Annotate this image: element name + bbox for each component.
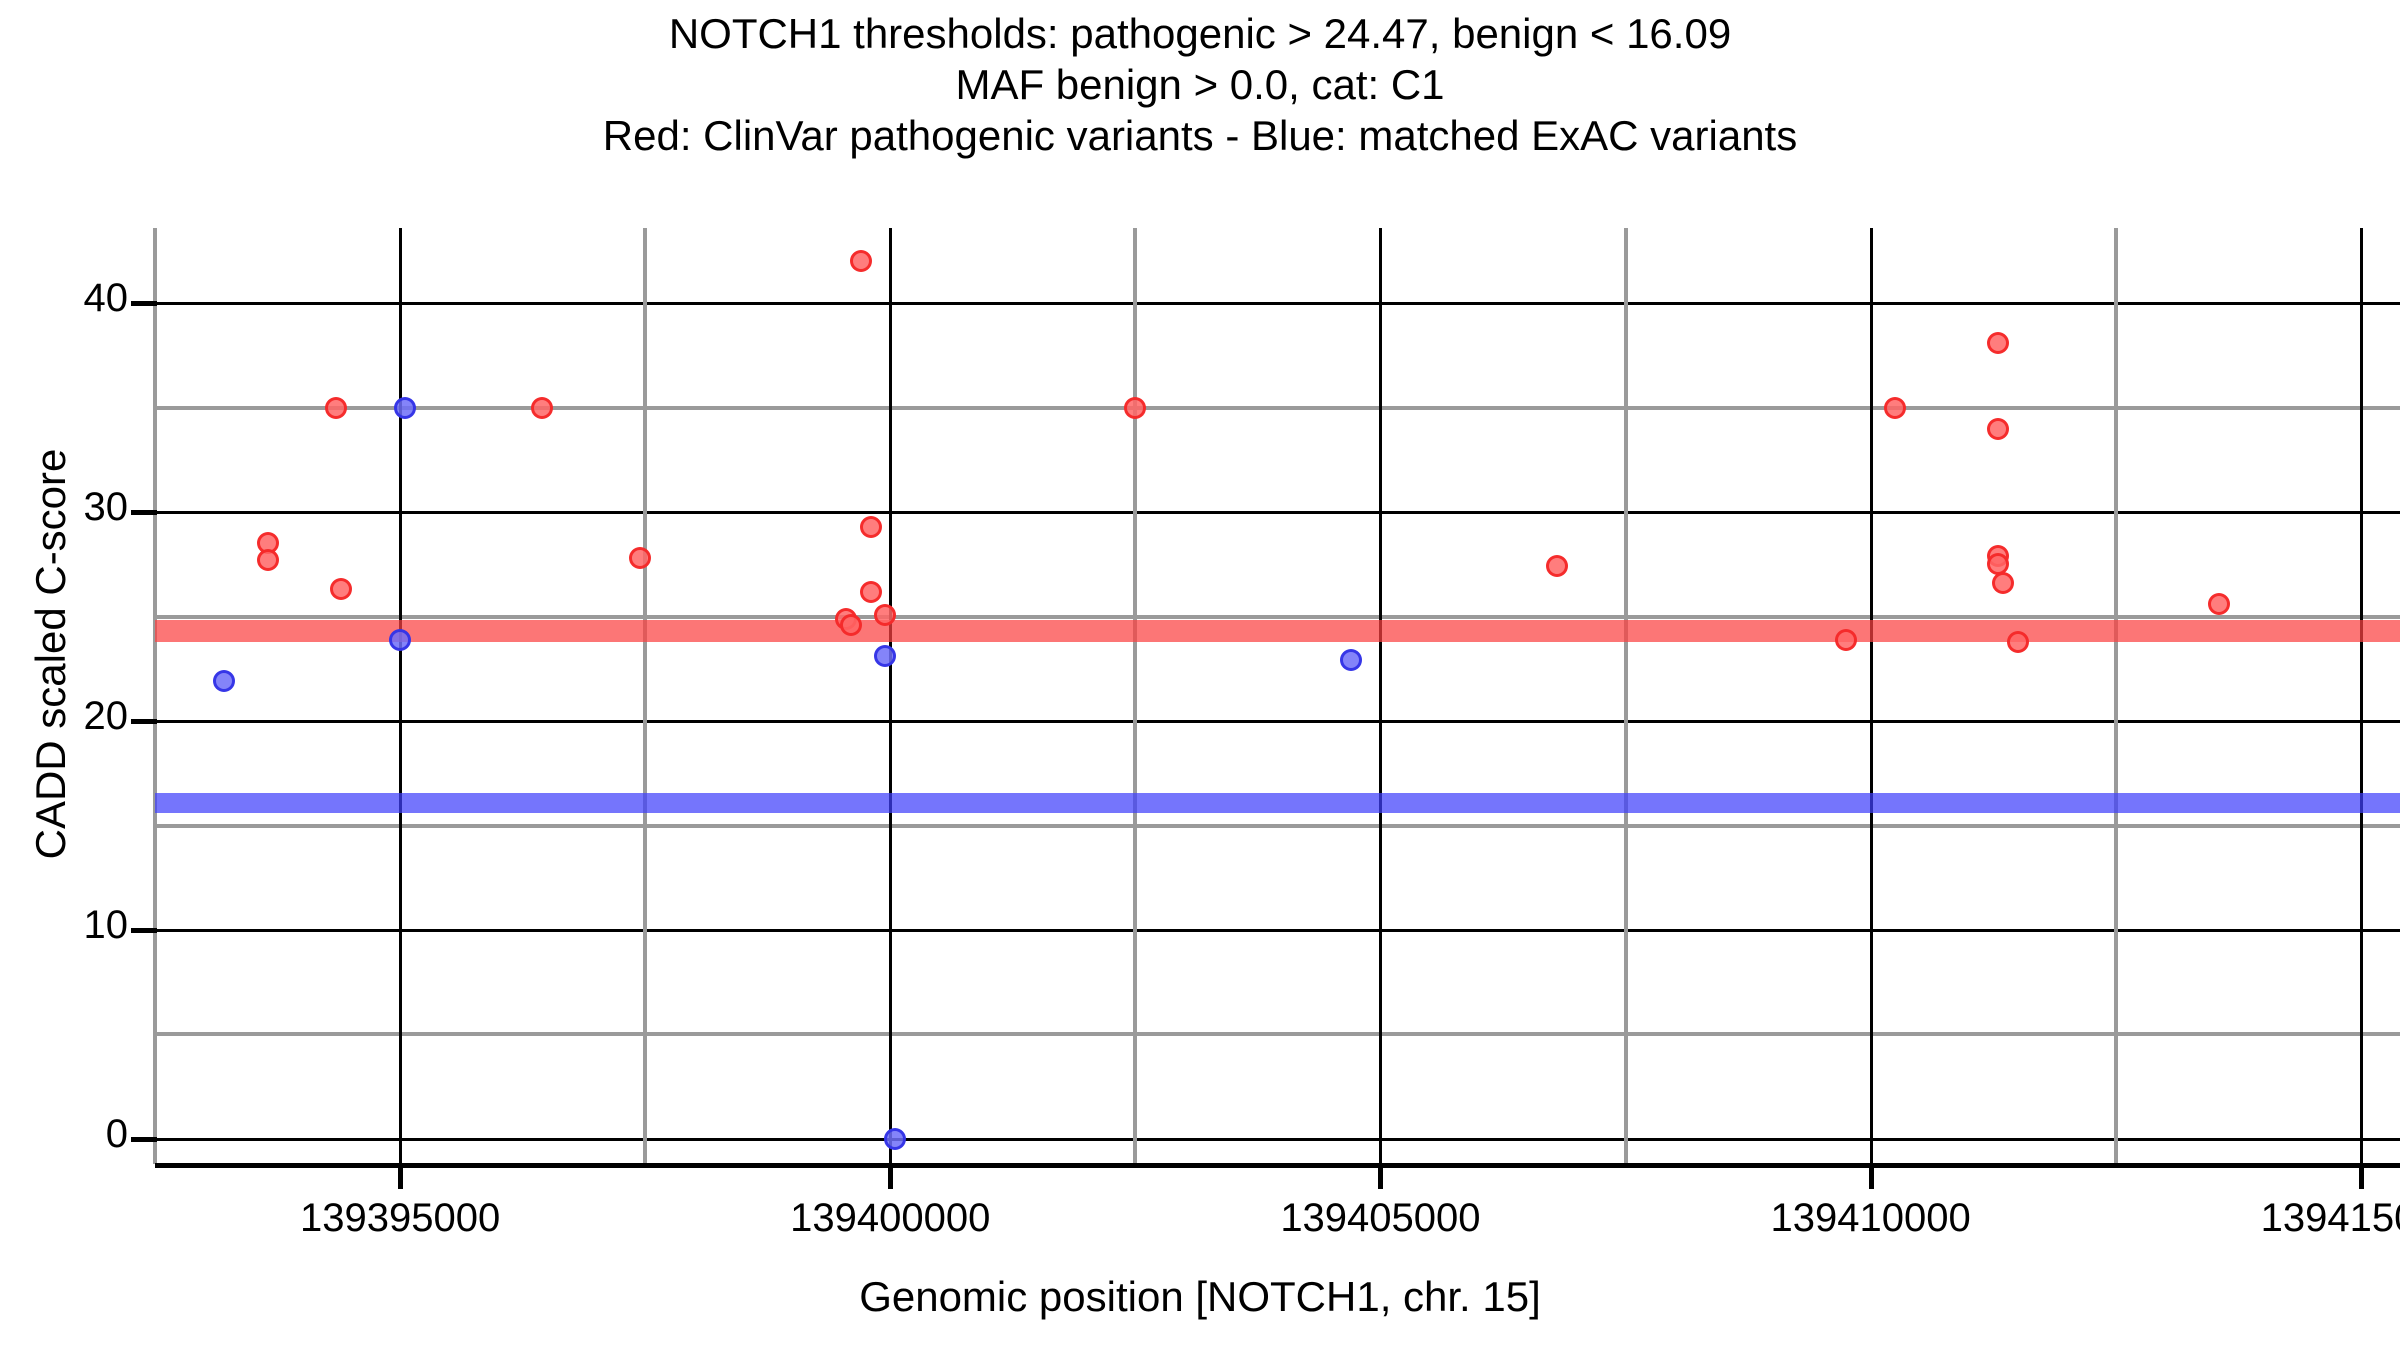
y-axis-tick-label: 40 xyxy=(0,276,128,321)
data-point-pathogenic xyxy=(1124,397,1146,419)
y-axis-tick xyxy=(131,928,157,933)
gridline-vertical-minor xyxy=(2114,228,2118,1164)
data-point-pathogenic xyxy=(874,604,896,626)
x-axis-line xyxy=(155,1163,2400,1168)
data-point-pathogenic xyxy=(531,397,553,419)
data-point-pathogenic xyxy=(1992,572,2014,594)
gridline-horizontal-major xyxy=(155,302,2400,305)
x-axis-tick-label: 139415000 xyxy=(2261,1196,2400,1241)
data-point-pathogenic xyxy=(840,614,862,636)
gridline-vertical-major xyxy=(1379,228,1382,1164)
gridline-horizontal-major xyxy=(155,1138,2400,1141)
gridline-vertical-minor xyxy=(643,228,647,1164)
gridline-horizontal-minor xyxy=(155,824,2400,828)
x-axis-tick-label: 139400000 xyxy=(790,1196,990,1241)
scatter-plot-figure: NOTCH1 thresholds: pathogenic > 24.47, b… xyxy=(0,0,2400,1350)
data-point-pathogenic xyxy=(330,578,352,600)
data-point-exac xyxy=(213,670,235,692)
gridline-horizontal-major xyxy=(155,720,2400,723)
data-point-exac xyxy=(394,397,416,419)
y-axis-tick xyxy=(131,719,157,724)
gridline-horizontal-minor xyxy=(155,406,2400,410)
y-axis-tick xyxy=(131,1137,157,1142)
y-axis-tick xyxy=(131,301,157,306)
gridline-vertical-minor xyxy=(1624,228,1628,1164)
data-point-pathogenic xyxy=(850,250,872,272)
x-axis-tick-label: 139405000 xyxy=(1280,1196,1480,1241)
gridline-horizontal-major xyxy=(155,929,2400,932)
x-axis-label: Genomic position [NOTCH1, chr. 15] xyxy=(0,1273,2400,1321)
data-point-pathogenic xyxy=(257,549,279,571)
data-point-pathogenic xyxy=(1546,555,1568,577)
data-point-exac xyxy=(884,1128,906,1150)
data-point-exac xyxy=(874,645,896,667)
y-axis-tick-label: 30 xyxy=(0,485,128,530)
gridline-horizontal-minor xyxy=(155,615,2400,619)
title-line-2: MAF benign > 0.0, cat: C1 xyxy=(0,59,2400,110)
gridline-vertical-major xyxy=(1870,228,1873,1164)
data-point-pathogenic xyxy=(2208,593,2230,615)
data-point-pathogenic xyxy=(1987,332,2009,354)
data-point-exac xyxy=(1340,649,1362,671)
y-axis-tick-label: 0 xyxy=(0,1112,128,1157)
title-line-1: NOTCH1 thresholds: pathogenic > 24.47, b… xyxy=(0,8,2400,59)
gridline-horizontal-major xyxy=(155,511,2400,514)
y-axis-label: CADD scaled C-score xyxy=(27,304,75,1004)
data-point-pathogenic xyxy=(860,581,882,603)
x-axis-tick xyxy=(888,1163,893,1189)
x-axis-tick xyxy=(1869,1163,1874,1189)
gridline-vertical-major xyxy=(399,228,402,1164)
threshold-band-benign xyxy=(155,793,2400,813)
chart-title: NOTCH1 thresholds: pathogenic > 24.47, b… xyxy=(0,8,2400,161)
plot-area xyxy=(155,228,2400,1164)
x-axis-tick xyxy=(398,1163,403,1189)
x-axis-tick xyxy=(2359,1163,2364,1189)
x-axis-tick xyxy=(1378,1163,1383,1189)
gridline-vertical-minor xyxy=(1133,228,1137,1164)
data-point-pathogenic xyxy=(1987,418,2009,440)
gridline-horizontal-minor xyxy=(155,1032,2400,1036)
data-point-pathogenic xyxy=(629,547,651,569)
y-axis-tick xyxy=(131,510,157,515)
data-point-exac xyxy=(389,629,411,651)
threshold-band-pathogenic xyxy=(155,620,2400,642)
title-line-3: Red: ClinVar pathogenic variants - Blue:… xyxy=(0,110,2400,161)
x-axis-tick-label: 139395000 xyxy=(300,1196,500,1241)
data-point-pathogenic xyxy=(2007,631,2029,653)
gridline-vertical-major xyxy=(2360,228,2363,1164)
data-point-pathogenic xyxy=(860,516,882,538)
data-point-pathogenic xyxy=(325,397,347,419)
gridline-vertical-major xyxy=(889,228,892,1164)
data-point-pathogenic xyxy=(1835,629,1857,651)
y-axis-line xyxy=(155,228,159,1164)
y-axis-tick-label: 10 xyxy=(0,903,128,948)
data-point-pathogenic xyxy=(1884,397,1906,419)
x-axis-tick-label: 139410000 xyxy=(1771,1196,1971,1241)
y-axis-tick-label: 20 xyxy=(0,694,128,739)
